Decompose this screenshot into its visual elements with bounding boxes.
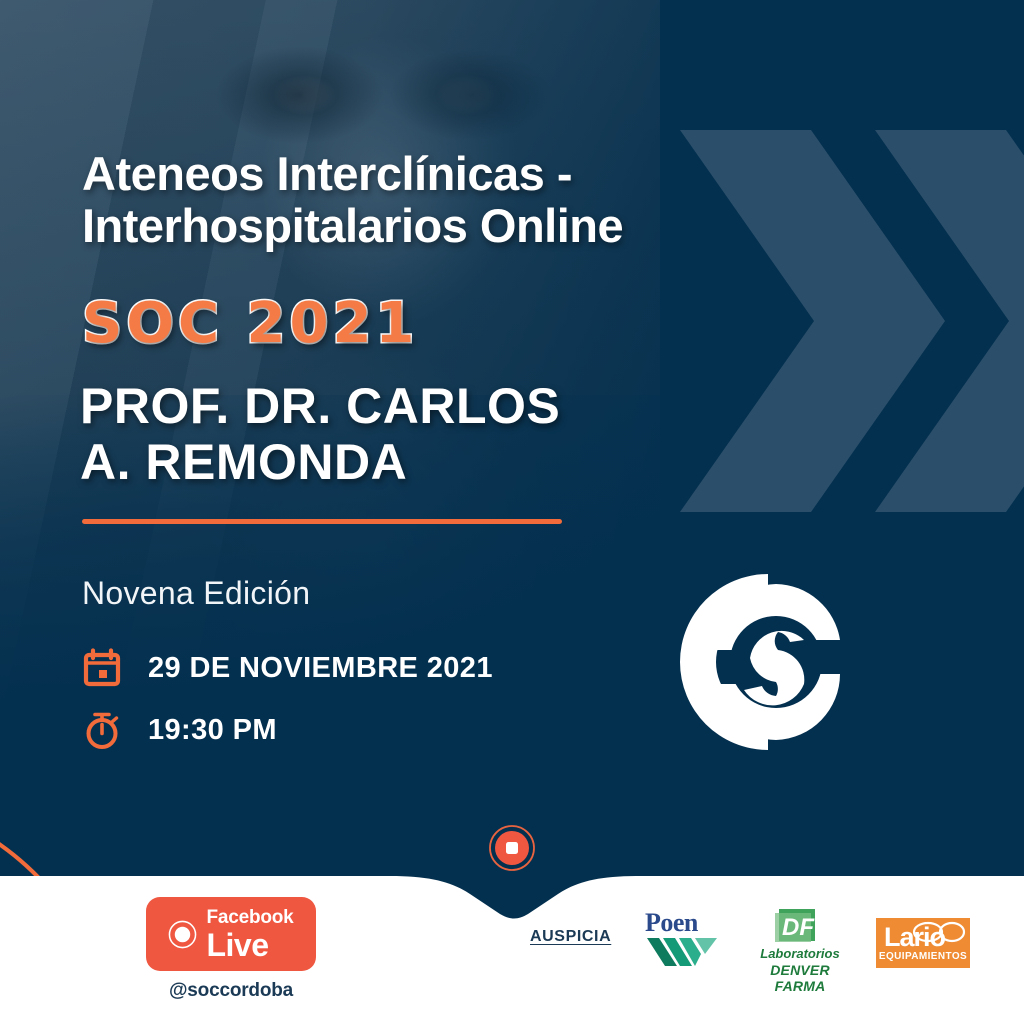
headline-line-1: Ateneos Interclínicas -	[82, 148, 702, 200]
speaker-line-1: PROF. DR. CARLOS	[80, 378, 680, 434]
headline-line-2: Interhospitalarios Online	[82, 200, 702, 252]
speaker-name: PROF. DR. CARLOS A. REMONDA	[80, 378, 680, 490]
auspicia-label: AUSPICIA	[530, 928, 611, 946]
facebook-live-line-2: Live	[206, 929, 293, 961]
date-row: 29 DE NOVIEMBRE 2021	[82, 648, 493, 688]
facebook-live-line-1: Facebook	[206, 908, 293, 927]
lario-wordmark: Lario	[884, 924, 945, 951]
stopwatch-icon	[82, 710, 122, 750]
social-handle[interactable]: @soccordoba	[146, 980, 316, 1002]
sponsor-logo-poen[interactable]: Poen	[645, 910, 719, 972]
edition-label: Novena Edición	[82, 575, 310, 612]
svg-text:DF: DF	[782, 914, 815, 941]
event-flyer: Ateneos Interclínicas - Interhospitalari…	[0, 0, 1024, 1024]
denver-line-1: Laboratorios	[745, 947, 855, 962]
speaker-line-2: A. REMONDA	[80, 434, 680, 490]
record-button-icon[interactable]	[488, 824, 536, 872]
time-row: 19:30 PM	[82, 710, 277, 750]
sponsor-logo-denver-farma[interactable]: DF Laboratorios DENVER FARMA	[745, 908, 855, 974]
poen-chevron-mark	[645, 936, 719, 966]
sponsor-logo-lario[interactable]: Lario EQUIPAMIENTOS	[876, 918, 970, 968]
denver-line-2: DENVER FARMA	[745, 962, 855, 994]
record-dot-icon	[168, 920, 197, 949]
date-text: 29 DE NOVIEMBRE 2021	[148, 652, 493, 685]
df-mark-icon: DF	[745, 908, 855, 942]
poen-wordmark: Poen	[645, 910, 719, 936]
double-chevron-decoration	[670, 130, 1024, 512]
lario-subtitle: EQUIPAMIENTOS	[876, 951, 970, 962]
facebook-live-badge[interactable]: Facebook Live	[146, 897, 316, 971]
orange-divider	[82, 519, 562, 524]
page-title: Ateneos Interclínicas - Interhospitalari…	[82, 148, 702, 251]
time-text: 19:30 PM	[148, 714, 277, 747]
soc-year-badge: SOC 2021	[82, 291, 418, 356]
calendar-icon	[82, 648, 122, 688]
cs-monogram-logo	[672, 562, 872, 762]
